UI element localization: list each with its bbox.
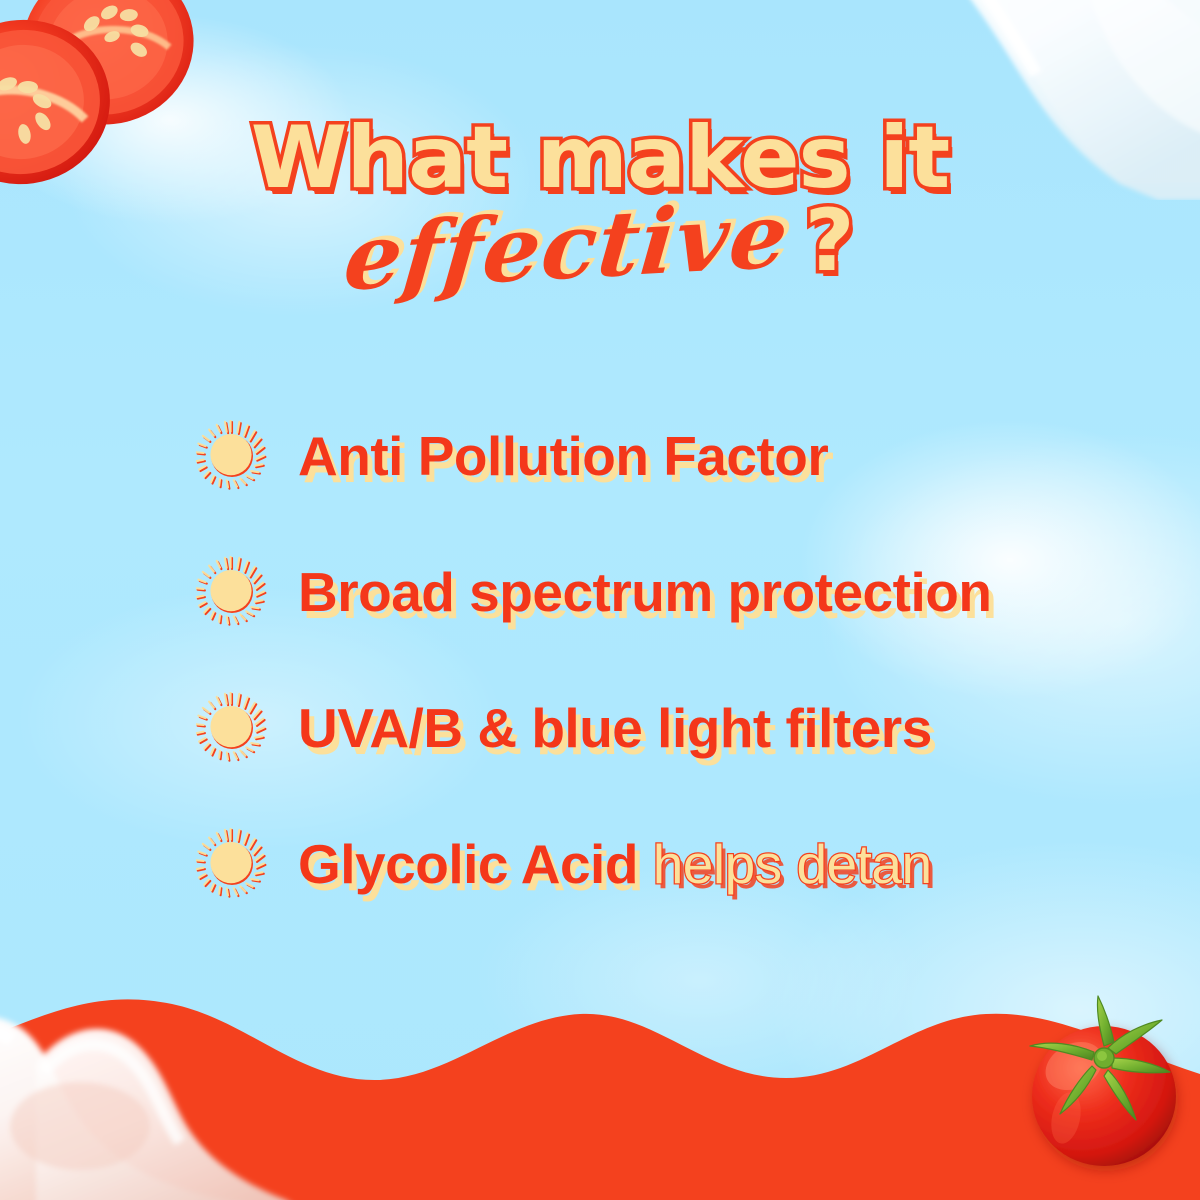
bottom-waves [0, 970, 1200, 1200]
feature-soft-text: helps detan [638, 833, 932, 895]
feature-strong-text: Glycolic Acid [298, 833, 638, 895]
poster-canvas: What makes it effective? [0, 0, 1200, 1200]
feature-strong-text: Broad spectrum protection [298, 561, 991, 623]
sun-icon [196, 692, 268, 764]
feature-label: Anti Pollution Factor [298, 429, 828, 484]
feature-label: Glycolic Acid helps detan [298, 837, 932, 892]
feature-item: Broad spectrum protection [196, 554, 1096, 630]
feature-strong-text: UVA/B & blue light filters [298, 697, 932, 759]
feature-item: Anti Pollution Factor [196, 418, 1096, 494]
feature-label: UVA/B & blue light filters [298, 701, 932, 756]
feature-label: Broad spectrum protection [298, 565, 991, 620]
sun-icon [196, 556, 268, 628]
feature-strong-text: Anti Pollution Factor [298, 425, 828, 487]
feature-item: UVA/B & blue light filters [196, 690, 1096, 766]
feature-item: Glycolic Acid helps detan [196, 826, 1096, 902]
sun-icon [196, 420, 268, 492]
feature-list: Anti Pollution Factor [196, 418, 1096, 962]
sun-icon [196, 828, 268, 900]
